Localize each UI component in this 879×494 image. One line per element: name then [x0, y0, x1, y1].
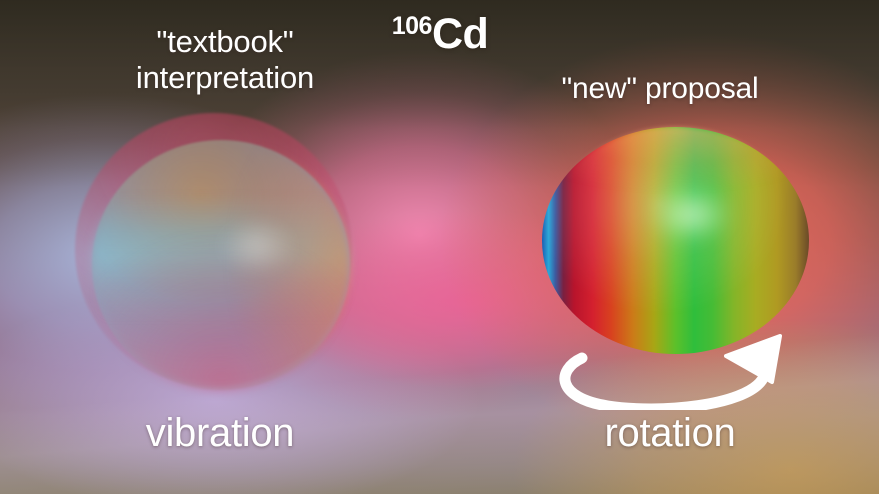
nuclide-mass-number: 106 — [392, 12, 432, 40]
vibration-sphere-cyan-band — [92, 140, 350, 390]
rotation-ellipsoid-highlight — [652, 190, 730, 240]
rotation-ellipsoid-shading — [542, 127, 809, 354]
vibration-sphere-outer-shell — [75, 113, 352, 386]
rotation-ellipsoid — [542, 127, 809, 354]
left-panel-title-line1: "textbook" — [156, 24, 293, 59]
vibration-sphere-highlight — [220, 220, 294, 272]
nuclide-element-symbol: Cd — [432, 10, 488, 58]
vibration-sphere-inner-shell — [92, 140, 350, 390]
rotation-arrow-head — [726, 336, 780, 382]
nuclide-label: 106Cd — [300, 10, 580, 60]
rotation-arrow-arc — [565, 358, 762, 409]
vibration-sphere-warm-limb — [92, 140, 350, 390]
rotation-ellipsoid-top-rim — [542, 127, 809, 354]
right-panel-caption: rotation — [525, 410, 815, 456]
vibration-sphere-bottom-rim — [92, 140, 350, 390]
left-panel-title-line2: interpretation — [136, 60, 314, 95]
right-panel-title: "new" proposal — [505, 72, 815, 107]
left-panel-caption: vibration — [75, 410, 365, 456]
illustration-canvas: "textbook" interpretation 106Cd "new" pr… — [0, 0, 879, 494]
rotation-arrow-icon — [548, 330, 788, 410]
